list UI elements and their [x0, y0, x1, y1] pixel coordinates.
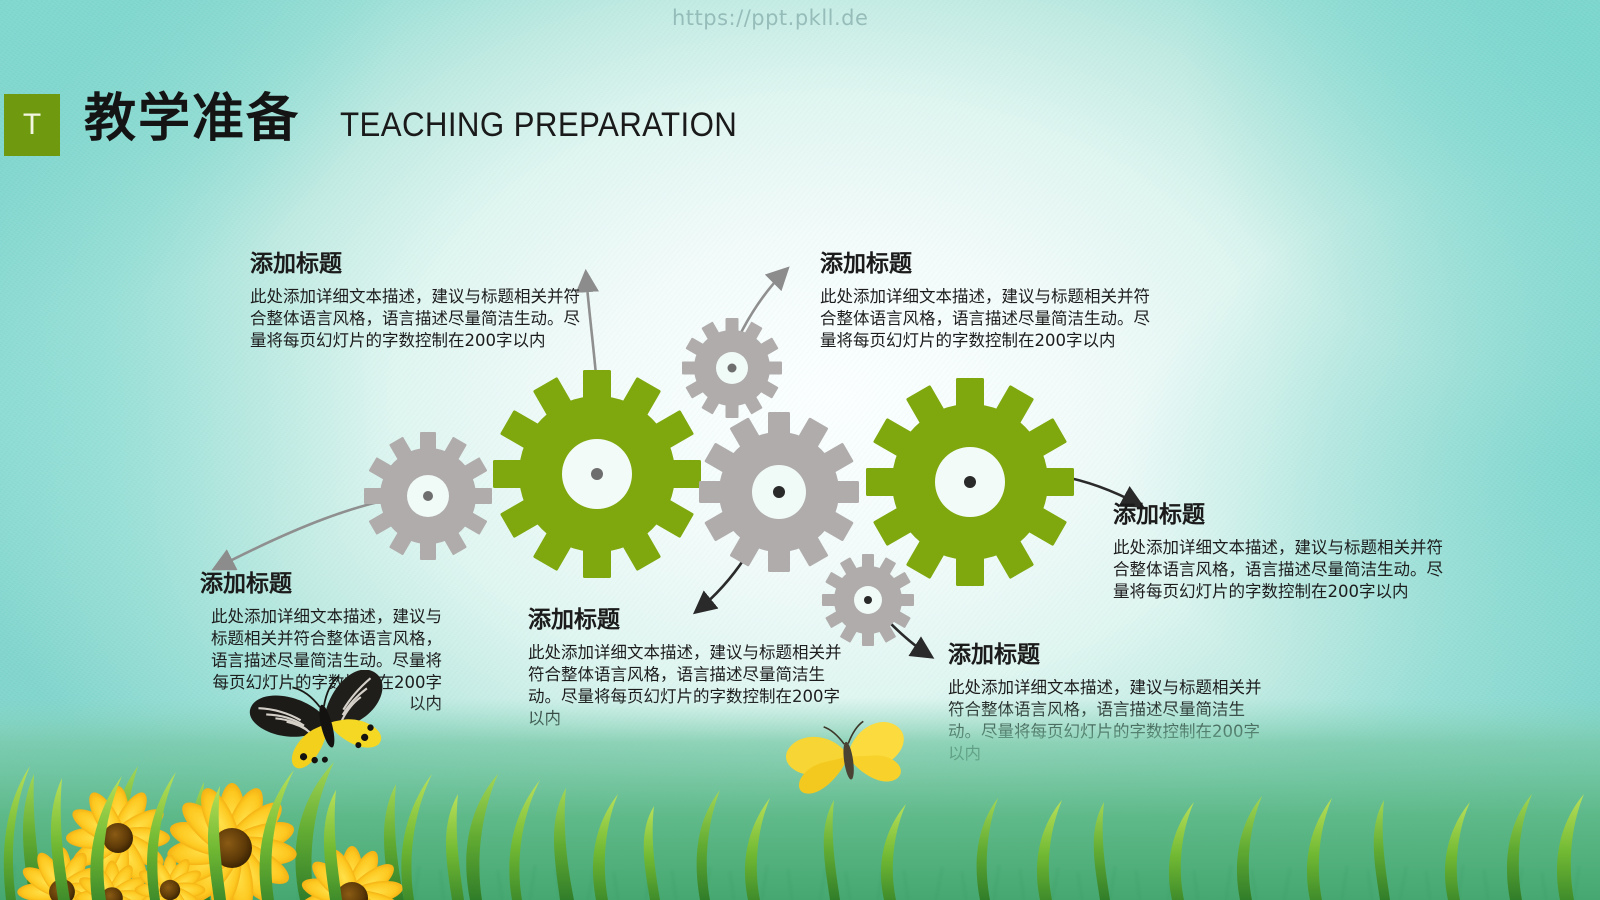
watermark-url: https://ppt.pkll.de	[672, 6, 868, 30]
block-title: 添加标题	[200, 572, 442, 597]
slide-canvas: https://ppt.pkll.de T 教学准备 TEACHING PREP…	[0, 0, 1600, 900]
block-title: 添加标题	[528, 608, 846, 633]
grass-scenery	[0, 670, 1600, 900]
logo-badge: T	[4, 94, 60, 156]
block-body: 此处添加详细文本描述，建议与标题相关并符合整体语言风格，语言描述尽量简洁生动。尽…	[820, 286, 1150, 351]
block-title: 添加标题	[820, 252, 1150, 277]
page-title-en: TEACHING PREPARATION	[340, 108, 737, 142]
text-block-top-right: 添加标题 此处添加详细文本描述，建议与标题相关并符合整体语言风格，语言描述尽量简…	[820, 252, 1150, 352]
block-body: 此处添加详细文本描述，建议与标题相关并符合整体语言风格，语言描述尽量简洁生动。尽…	[250, 286, 580, 351]
block-title: 添加标题	[250, 252, 580, 277]
text-block-top-left: 添加标题 此处添加详细文本描述，建议与标题相关并符合整体语言风格，语言描述尽量简…	[250, 252, 580, 352]
logo-letter: T	[23, 110, 41, 140]
block-title: 添加标题	[948, 643, 1270, 668]
block-title: 添加标题	[1113, 503, 1443, 528]
page-title-zh: 教学准备	[84, 93, 300, 145]
block-body: 此处添加详细文本描述，建议与标题相关并符合整体语言风格，语言描述尽量简洁生动。尽…	[1113, 537, 1443, 602]
text-block-right-middle: 添加标题 此处添加详细文本描述，建议与标题相关并符合整体语言风格，语言描述尽量简…	[1113, 503, 1443, 603]
